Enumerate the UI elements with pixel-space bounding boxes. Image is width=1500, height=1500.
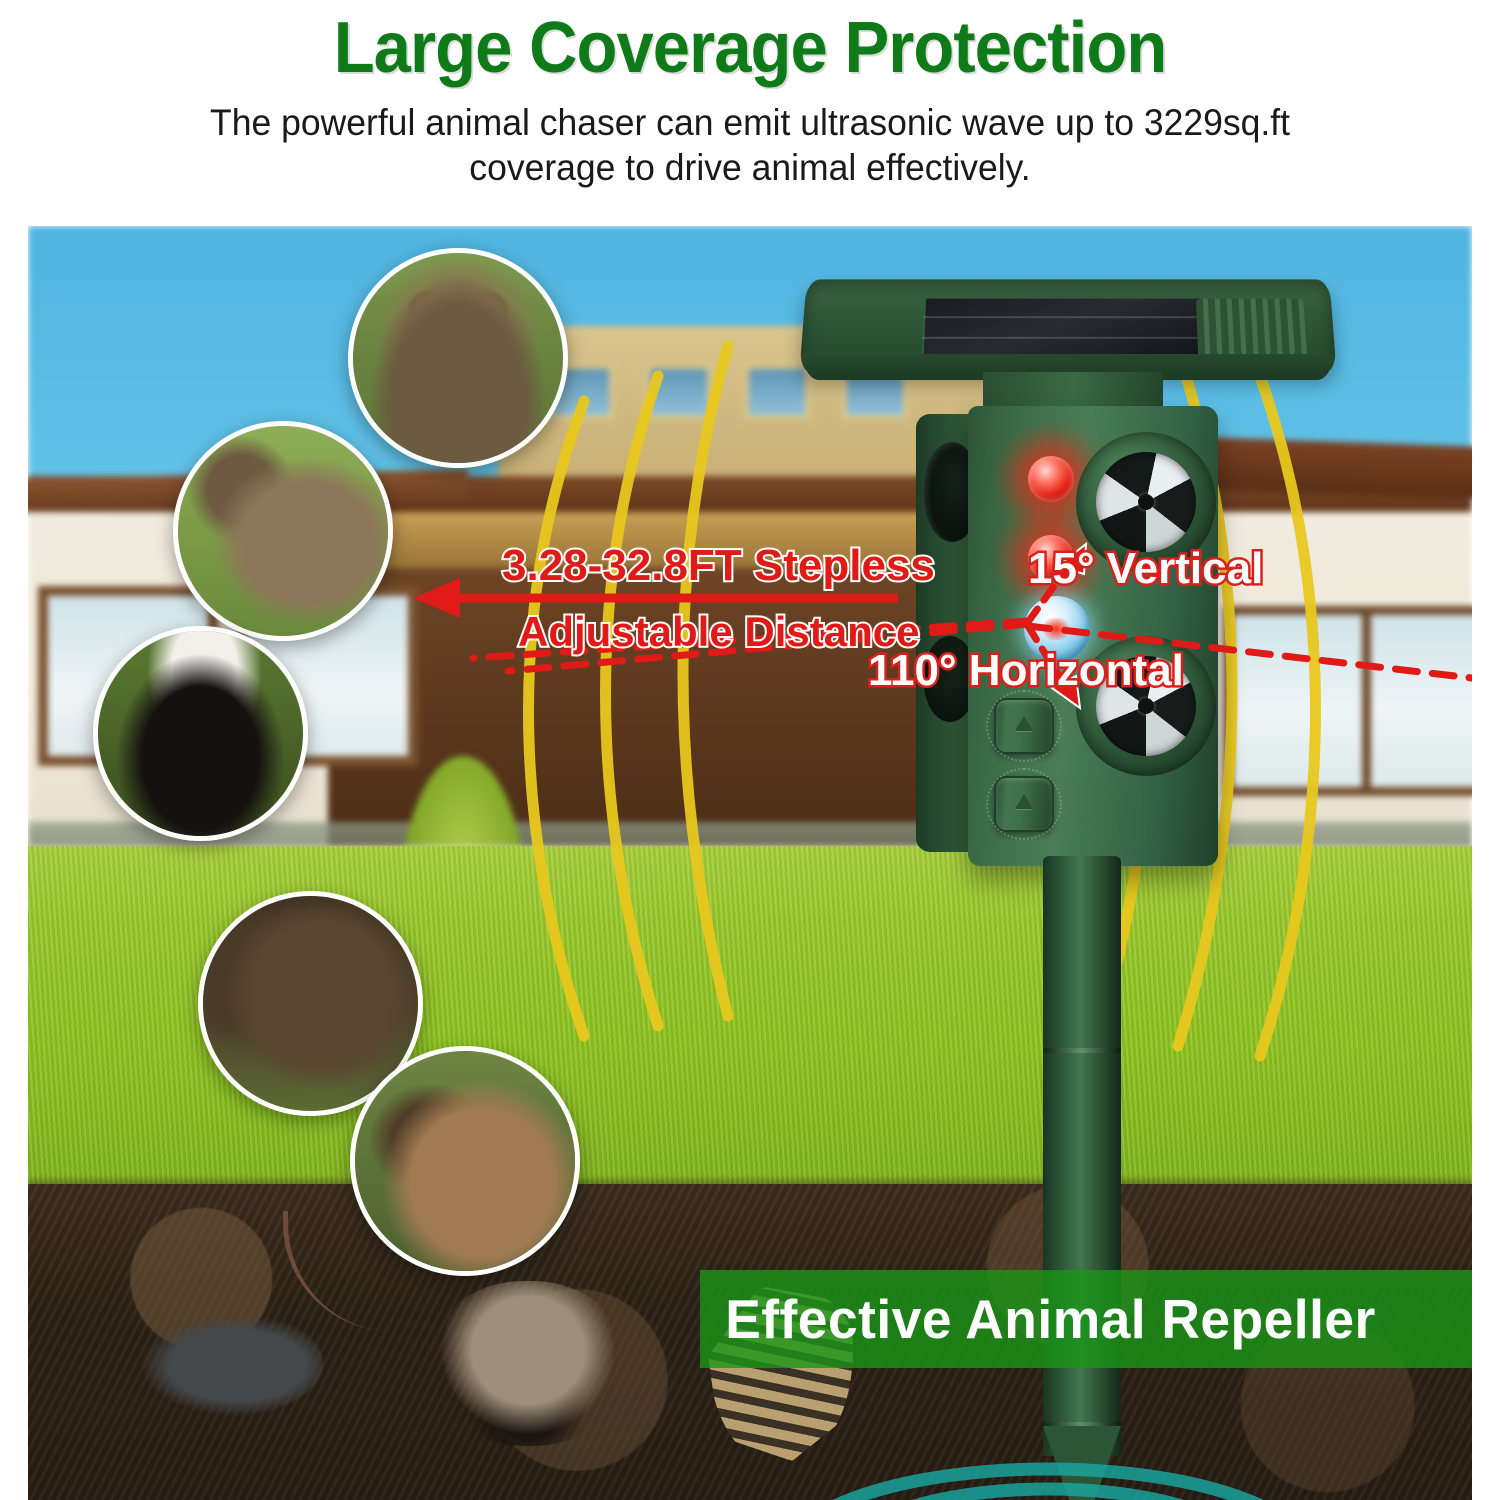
house-window-right-2 [1362, 606, 1472, 796]
product-scene: 3.28-32.8FT Stepless Adjustable Distance… [28, 226, 1472, 1500]
underground-gopher [428, 1281, 628, 1446]
led-indicator-upper [1028, 456, 1074, 502]
skunk-photo [98, 631, 303, 836]
vertical-angle-label: 15° Vertical [1028, 544, 1263, 594]
speaker-vent [1196, 299, 1307, 360]
subtitle-line-1: The powerful animal chaser can emit ultr… [30, 100, 1470, 145]
sensitivity-knob-scale [986, 690, 1062, 762]
animal-bubble-skunk [93, 626, 308, 841]
horizontal-angle-label: 110° Horizontal [868, 646, 1184, 696]
stake-tip [1043, 1426, 1121, 1500]
ultrasonic-animal-repeller-device [788, 236, 1348, 1436]
animal-bubble-hare [173, 421, 393, 641]
upper-window-2 [646, 364, 712, 420]
adjustable-distance-label-line2: Adjustable Distance [518, 608, 919, 656]
frequency-knob-scale [986, 768, 1062, 840]
page-title: Large Coverage Protection [53, 0, 1448, 84]
underground-mouse [133, 1311, 323, 1416]
stake-seam-upper [1043, 1048, 1121, 1053]
subtitle-line-2: coverage to drive animal effectively. [30, 145, 1470, 190]
hare-photo [178, 426, 388, 636]
effective-animal-repeller-banner: Effective Animal Repeller [700, 1270, 1472, 1368]
page-subtitle: The powerful animal chaser can emit ultr… [30, 84, 1470, 190]
header: Large Coverage Protection The powerful a… [0, 0, 1500, 226]
adjustable-distance-label-line1: 3.28-32.8FT Stepless [502, 541, 935, 591]
solar-panel [922, 297, 1235, 358]
banner-label: Effective Animal Repeller [700, 1287, 1376, 1351]
distance-stepless-word: Stepless [742, 541, 935, 590]
pir-sensor-glow [1043, 618, 1069, 640]
distance-range-value: 3.28-32.8FT [502, 541, 742, 590]
